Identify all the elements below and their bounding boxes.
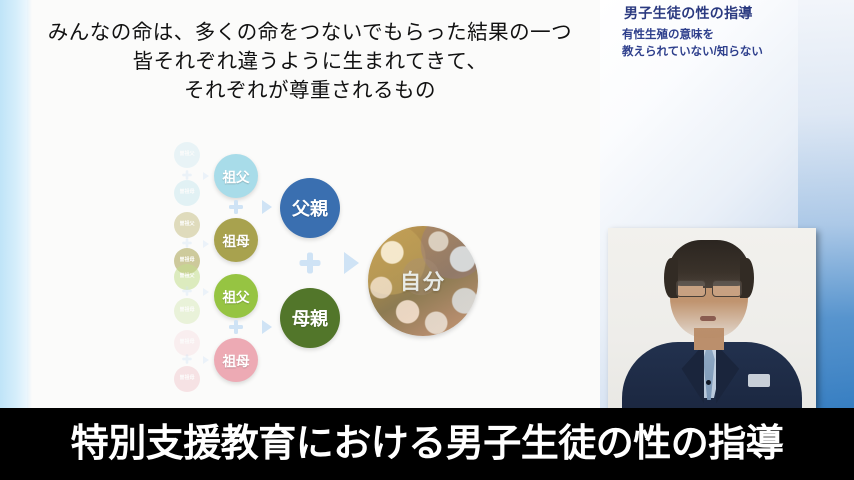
speaker-glasses-bridge: [703, 286, 713, 288]
grandparent-circle-paternal-grandfather: 祖父: [214, 154, 258, 198]
slide-heading-line-2: 皆それぞれ違うように生まれてきて、: [30, 47, 590, 76]
self-label: 自分: [400, 266, 446, 296]
arrow-right-icon: [262, 200, 272, 214]
presentation-slide: みんなの命は、多くの命をつないでもらった結果の一つ 皆それぞれ違うように生まれて…: [0, 0, 600, 408]
arrow-right-icon: [203, 172, 209, 180]
grandparent-circle-maternal-grandmother: 祖母: [214, 338, 258, 382]
caption-bar: 特別支援教育における男子生徒の性の指導: [0, 408, 854, 480]
plus-icon: [182, 238, 192, 248]
panel-subtitle-line-1: 有性生殖の意味を: [622, 27, 846, 44]
ancestor-dot: 曽祖母: [174, 366, 200, 392]
self-circle: 自分: [368, 226, 478, 336]
parent-circle-mother: 母親: [280, 288, 340, 348]
ancestor-dot: 曽祖父: [174, 142, 200, 168]
speaker-hair-right: [740, 258, 754, 298]
ancestor-dot: 曽祖母: [174, 330, 200, 356]
panel-subtitle-line-2: 教えられていない/知らない: [622, 44, 846, 61]
speaker-video[interactable]: [608, 228, 816, 408]
plus-icon: [229, 320, 243, 334]
ancestor-dot: 曽祖母: [174, 298, 200, 324]
plus-icon: [229, 200, 243, 214]
ancestor-column: 曽祖父 曽祖母 曽祖父 曽祖母 曽祖父 曽祖母 曽祖母 曽祖母: [170, 138, 212, 390]
slide-heading: みんなの命は、多くの命をつないでもらった結果の一つ 皆それぞれ違うように生まれて…: [30, 18, 590, 105]
info-panel: 男子生徒の性の指導 有性生殖の意味を 教えられていない/知らない: [600, 0, 854, 408]
ancestor-dot: 曽祖父: [174, 212, 200, 238]
speaker-glasses-right: [712, 280, 742, 297]
arrow-right-icon: [203, 288, 209, 296]
slide-heading-line-1: みんなの命は、多くの命をつないでもらった結果の一つ: [30, 18, 590, 47]
ancestor-dot: 曽祖母: [174, 180, 200, 206]
plus-icon: [300, 253, 321, 274]
speaker-glasses-left: [676, 280, 706, 297]
grandparent-circle-paternal-grandmother: 祖母: [214, 218, 258, 262]
plus-icon: [182, 286, 192, 296]
arrow-right-icon: [203, 240, 209, 248]
family-lineage-diagram: 曽祖父 曽祖母 曽祖父 曽祖母 曽祖父 曽祖母 曽祖母 曽祖母 祖父 祖母: [170, 138, 500, 393]
panel-title: 男子生徒の性の指導: [624, 3, 844, 23]
slide-left-accent-stripe: [0, 0, 30, 408]
video-player-stage: みんなの命は、多くの命をつないでもらった結果の一つ 皆それぞれ違うように生まれて…: [0, 0, 854, 480]
plus-icon: [182, 170, 192, 180]
speaker-pocket-square: [748, 374, 770, 387]
grandparent-circle-maternal-grandfather: 祖父: [214, 274, 258, 318]
panel-subtitle: 有性生殖の意味を 教えられていない/知らない: [622, 27, 846, 62]
arrow-right-icon: [203, 356, 209, 364]
plus-icon: [182, 354, 192, 364]
caption-text: 特別支援教育における男子生徒の性の指導: [71, 425, 784, 463]
parent-circle-father: 父親: [280, 178, 340, 238]
lapel-microphone-icon: [706, 380, 711, 385]
speaker-mouth: [700, 316, 716, 321]
arrow-right-icon: [262, 320, 272, 334]
slide-heading-line-3: それぞれが尊重されるもの: [30, 76, 590, 105]
arrow-right-icon: [344, 252, 359, 274]
speaker-video-image: [608, 228, 816, 408]
